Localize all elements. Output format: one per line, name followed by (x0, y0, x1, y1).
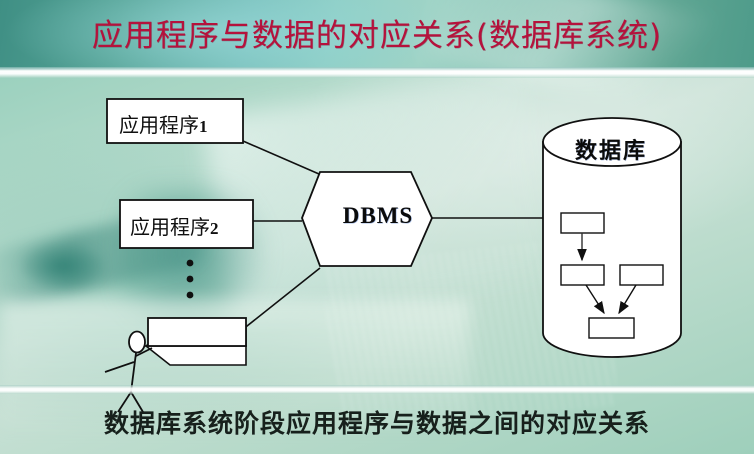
ellipsis-dots (187, 260, 194, 299)
stick-figure-user (105, 332, 152, 413)
app-box-2-number: 2 (210, 219, 219, 238)
app-box-2-label: 应用程序2 (130, 211, 219, 240)
database-label: 数据库 (541, 133, 681, 165)
connector-app1-dbms (243, 141, 319, 174)
slide: 应用程序与数据的对应关系(数据库系统) (0, 0, 754, 454)
app-box-n (146, 318, 246, 365)
connector-appn-dbms (242, 268, 320, 330)
inner-box-root (561, 213, 604, 233)
figure-caption: 数据库系统阶段应用程序与数据之间的对应关系 (0, 404, 754, 440)
app-box-1-text: 应用程序 (119, 115, 199, 137)
app-box-2-text: 应用程序 (130, 217, 210, 239)
app-box-1-label: 应用程序1 (119, 109, 208, 138)
app-box-1-number: 1 (199, 117, 208, 136)
dbms-label: DBMS (318, 203, 438, 229)
inner-box-child-left (561, 265, 604, 285)
inner-box-leaf (589, 318, 634, 338)
divider-bottom (0, 385, 754, 394)
inner-box-child-right (620, 265, 663, 285)
